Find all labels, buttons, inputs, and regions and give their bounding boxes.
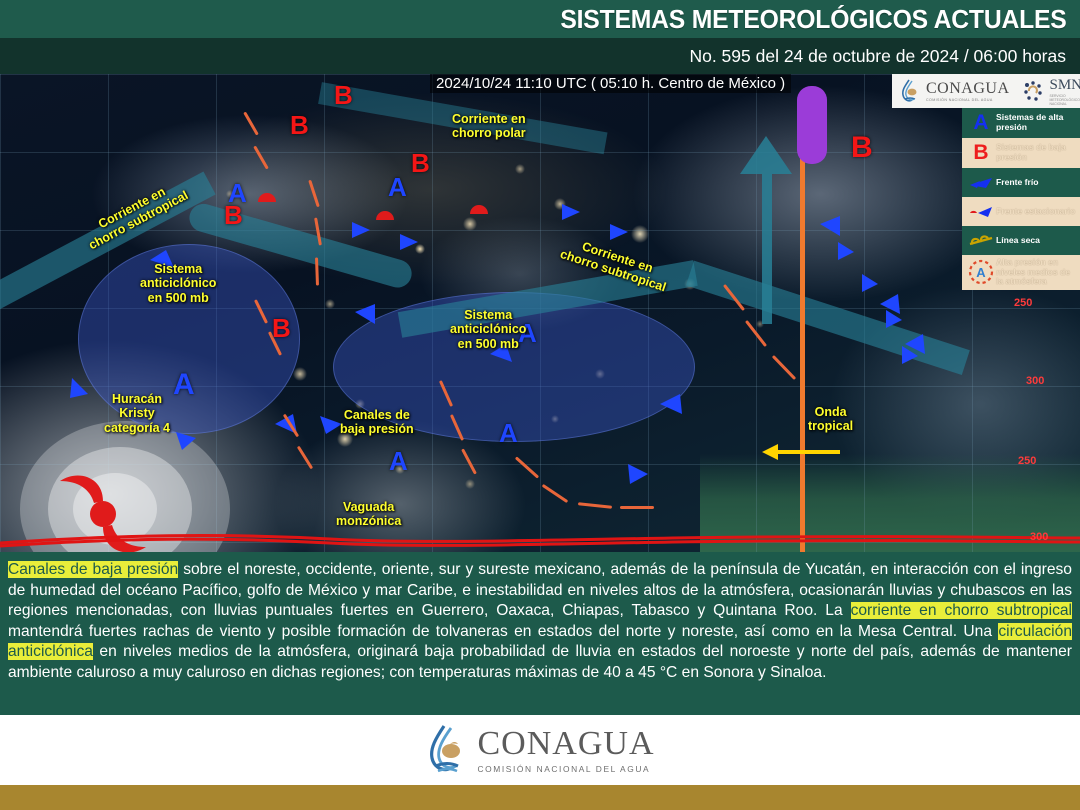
legend-label-cold-front: Frente frío (996, 178, 1039, 188)
bulletin-number-date: No. 595 del 24 de octubre de 2024 / 06:0… (689, 46, 1080, 67)
conagua-footer-wordmark: CONAGUA (478, 727, 655, 761)
legend-label-dry-line: Línea seca (996, 236, 1040, 246)
legend-item-cold-front: Frente frío (962, 168, 1080, 197)
letter-B-icon: B (966, 141, 996, 165)
dry-line-icon (966, 234, 996, 248)
footer-gold-bar (0, 785, 1080, 810)
jet-polar-label: Corriente en chorro polar (452, 112, 526, 141)
jet-stream-north-arrow (730, 134, 800, 324)
monsoon-trough-line (0, 532, 1080, 548)
tropical-wave-line (800, 158, 805, 552)
high-pressure-letter-A: A (173, 368, 195, 402)
contour-label: 300 (1026, 375, 1044, 387)
low-pressure-channels-label: Canales de baja presión (340, 408, 414, 437)
legend-label-stationary-front: Frente estacionario (996, 207, 1075, 217)
legend-item-high-pressure: A Sistemas de alta presión (962, 108, 1080, 138)
contour-label: 250 (1014, 297, 1032, 309)
legend-item-low-pressure: B Sistemas de baja presión (962, 138, 1080, 168)
low-pressure-letter-B: B (851, 131, 873, 165)
discussion-segment: mantendrá fuertes rachas de viento y pos… (8, 623, 998, 640)
conagua-water-drop-icon (426, 724, 468, 776)
satellite-map[interactable]: A A A A A A B B B B B B Corriente en cho… (0, 74, 1080, 552)
header-title-bar: SISTEMAS METEOROLÓGICOS ACTUALES (0, 0, 1080, 38)
discussion-segment: Canales de baja presión (8, 561, 178, 578)
letter-A-icon: A (966, 111, 996, 135)
legend-item-dry-line: Línea seca (962, 226, 1080, 255)
smn-wordmark: SMN (1050, 77, 1080, 94)
conagua-footer-logo: CONAGUA COMISIÓN NACIONAL DEL AGUA (426, 724, 655, 776)
stationary-front-icon (966, 205, 996, 219)
legend-label-low-pressure: Sistemas de baja presión (996, 143, 1076, 162)
footer-logo-bar: CONAGUA COMISIÓN NACIONAL DEL AGUA (0, 715, 1080, 785)
anticyclone-pacific-label: Sistema anticiclónico en 500 mb (140, 262, 216, 305)
svg-text:A: A (976, 265, 986, 280)
high-pressure-letter-A: A (388, 172, 407, 203)
discussion-segment: en niveles medios de la atmósfera, origi… (8, 643, 1072, 681)
conagua-wordmark: CONAGUA (926, 80, 1010, 98)
contour-label: 250 (1018, 455, 1036, 467)
conagua-water-drop-icon (900, 79, 920, 103)
low-pressure-letter-B: B (411, 148, 430, 179)
weather-bulletin-page: SISTEMAS METEOROLÓGICOS ACTUALES No. 595… (0, 0, 1080, 810)
anticyclone-gulf-label: Sistema anticiclónico en 500 mb (450, 308, 526, 351)
conagua-tagline: COMISIÓN NACIONAL DEL AGUA (926, 98, 1010, 102)
header-subtitle-bar: No. 595 del 24 de octubre de 2024 / 06:0… (0, 38, 1080, 74)
legend-label-high-pressure: Sistemas de alta presión (996, 113, 1076, 132)
page-title: SISTEMAS METEOROLÓGICOS ACTUALES (560, 4, 1080, 35)
contour-label: 300 (1030, 531, 1048, 543)
monsoon-trough-label: Vaguada monzónica (336, 500, 401, 529)
conagua-footer-tagline: COMISIÓN NACIONAL DEL AGUA (478, 764, 655, 774)
legend-label-mid-level-high: Alta presión en niveles medios de la atm… (996, 258, 1076, 287)
forecast-discussion-panel: Canales de baja presión sobre el noreste… (0, 552, 1080, 715)
low-pressure-letter-B: B (334, 80, 353, 111)
smn-emblem-icon (1022, 80, 1044, 102)
discussion-segment: corriente en chorro subtropical (851, 602, 1072, 619)
tropical-wave-direction-arrow (760, 440, 850, 464)
high-pressure-letter-A: A (389, 446, 408, 477)
map-timestamp: 2024/10/24 11:10 UTC ( 05:10 h. Centro d… (430, 74, 791, 93)
tropical-wave-label: Onda tropical (808, 405, 853, 434)
mid-level-high-icon: A (966, 258, 996, 286)
forecast-discussion-text: Canales de baja presión sobre el noreste… (8, 560, 1072, 683)
cold-front-icon (966, 176, 996, 190)
conagua-smn-logo-header: CONAGUA COMISIÓN NACIONAL DEL AGUA SMN S… (892, 74, 1080, 108)
hurricane-kristy-label: Huracán Kristy categoría 4 (104, 392, 170, 435)
upper-level-low-purple-patch (797, 86, 827, 164)
high-pressure-letter-A: A (499, 418, 518, 449)
low-pressure-letter-B: B (290, 110, 309, 141)
legend-item-mid-level-high: A Alta presión en niveles medios de la a… (962, 255, 1080, 290)
smn-tagline: SERVICIO METEOROLÓGICO NACIONAL (1050, 94, 1080, 106)
trough-line-segment (620, 506, 654, 509)
low-pressure-letter-B: B (224, 200, 243, 231)
map-legend: A Sistemas de alta presión B Sistemas de… (962, 108, 1080, 290)
legend-item-stationary-front: Frente estacionario (962, 197, 1080, 226)
low-pressure-letter-B: B (272, 313, 291, 344)
